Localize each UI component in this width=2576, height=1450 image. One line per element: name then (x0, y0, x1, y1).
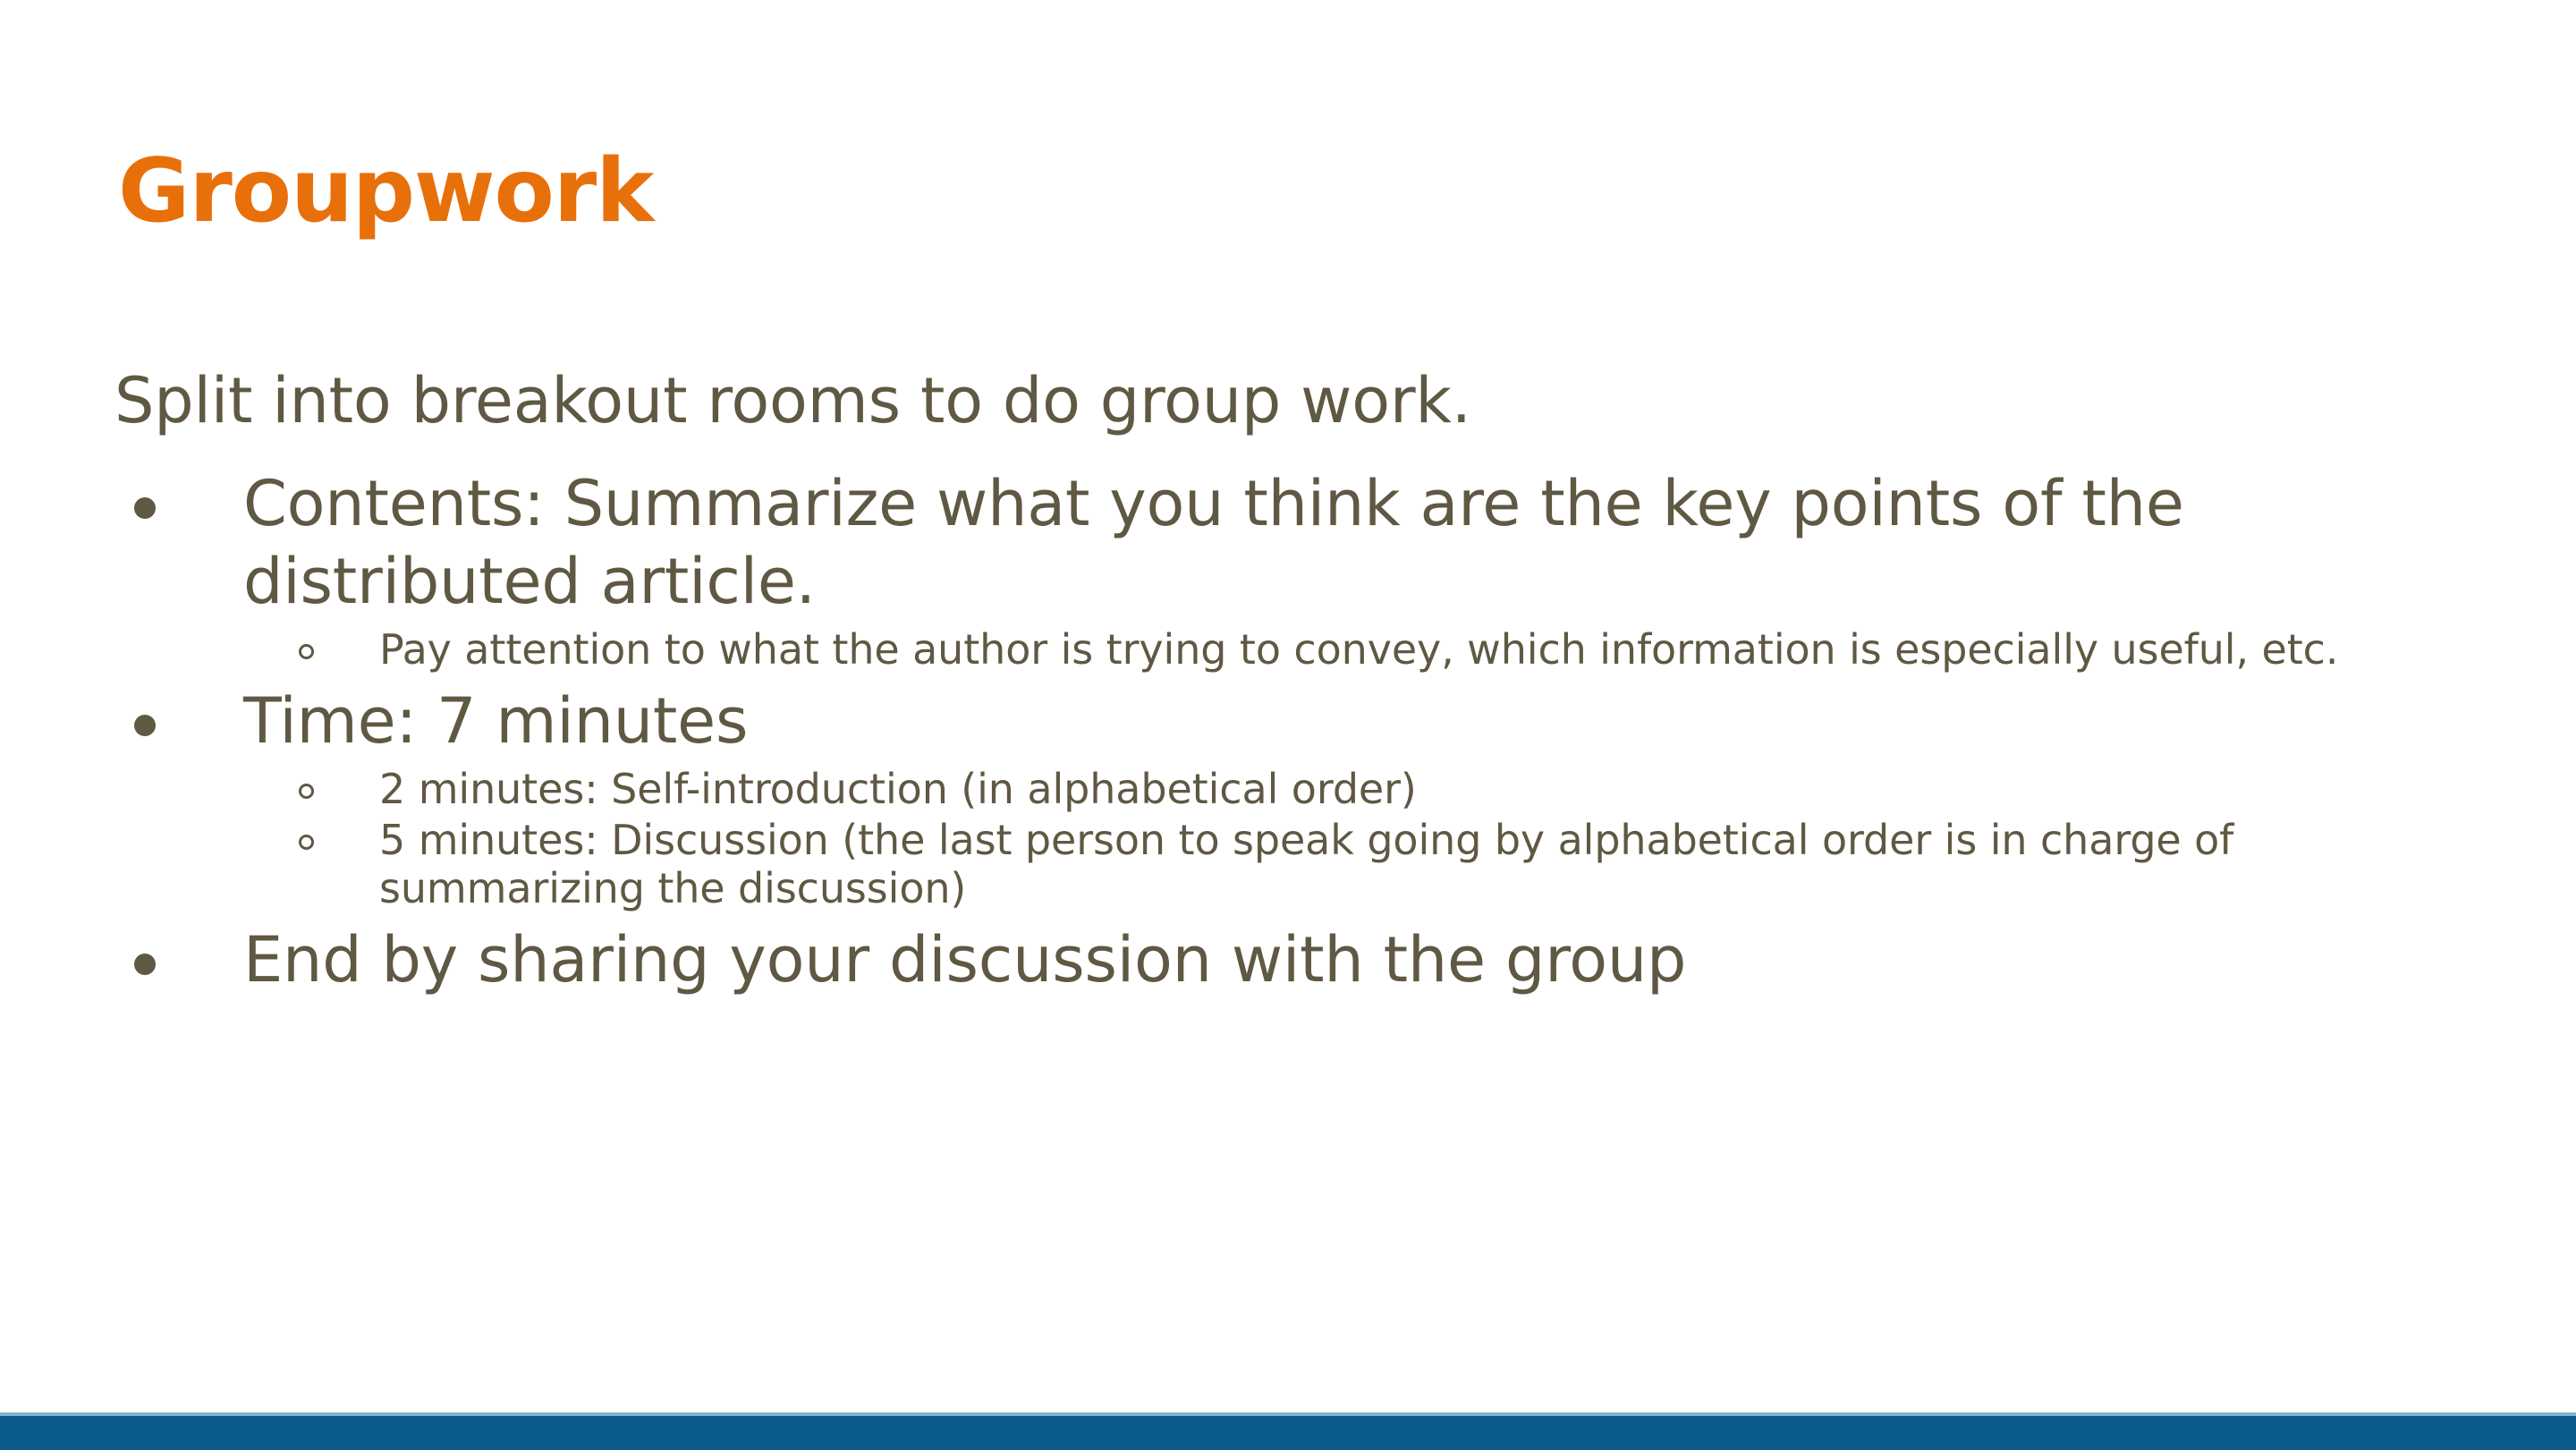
circle-bullet-icon (299, 835, 314, 850)
slide-canvas: Groupwork Split into breakout rooms to d… (0, 0, 2576, 1450)
sub-list-item-label: Pay attention to what the author is tryi… (379, 626, 2383, 674)
bullet-list: Contents: Summarize what you think are t… (114, 465, 2476, 999)
list-item: End by sharing your discussion with the … (114, 921, 2476, 999)
footer-bar (0, 1416, 2576, 1450)
circle-bullet-icon (299, 644, 314, 659)
list-item-label: Contents: Summarize what you think are t… (243, 465, 2476, 621)
sub-list-item: 2 minutes: Self-introduction (in alphabe… (243, 766, 2476, 813)
list-item-label: End by sharing your discussion with the … (243, 921, 2476, 999)
sub-list-item-label: 5 minutes: Discussion (the last person t… (379, 817, 2383, 912)
sub-bullet-list: 2 minutes: Self-introduction (in alphabe… (243, 766, 2476, 912)
list-item: Contents: Summarize what you think are t… (114, 465, 2476, 674)
page-title: Groupwork (118, 146, 653, 238)
sub-list-item-label: 2 minutes: Self-introduction (in alphabe… (379, 766, 2383, 813)
sub-list-item: Pay attention to what the author is tryi… (243, 626, 2476, 674)
sub-list-item: 5 minutes: Discussion (the last person t… (243, 817, 2476, 912)
circle-bullet-icon (299, 784, 314, 799)
list-item: Time: 7 minutes 2 minutes: Self-introduc… (114, 683, 2476, 912)
disc-bullet-icon (134, 497, 156, 519)
disc-bullet-icon (134, 954, 156, 975)
disc-bullet-icon (134, 715, 156, 736)
slide-body: Split into breakout rooms to do group wo… (114, 361, 2476, 1001)
list-item-label: Time: 7 minutes (243, 683, 2476, 760)
lead-paragraph: Split into breakout rooms to do group wo… (114, 361, 2476, 440)
sub-bullet-list: Pay attention to what the author is tryi… (243, 626, 2476, 674)
